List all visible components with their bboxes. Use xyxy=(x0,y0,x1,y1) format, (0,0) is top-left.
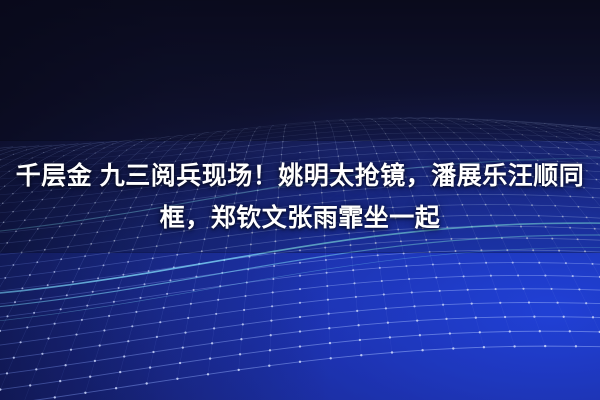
band-seam-lower xyxy=(0,252,600,253)
band-seam-upper xyxy=(0,140,600,141)
headline-text: 千层金 九三阅兵现场！姚明太抢镜，潘展乐汪顺同框，郑钦文张雨霏坐一起 xyxy=(0,155,600,239)
news-banner: 千层金 九三阅兵现场！姚明太抢镜，潘展乐汪顺同框，郑钦文张雨霏坐一起 xyxy=(0,0,600,400)
